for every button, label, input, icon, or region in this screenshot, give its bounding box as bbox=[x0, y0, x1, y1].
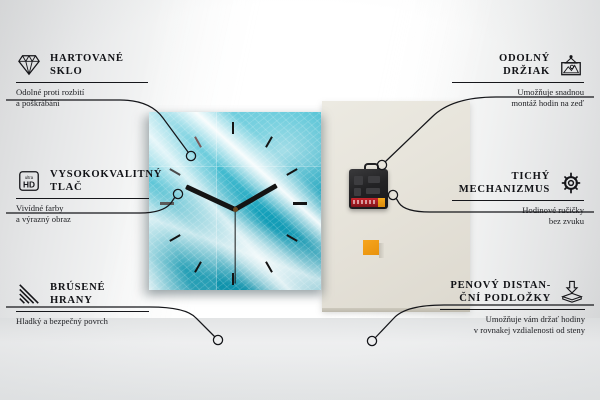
feature-head: PENOVÝ DISTAN- ČNÍ PODLOŽKY bbox=[440, 279, 585, 305]
picture-hanger-icon bbox=[558, 53, 584, 77]
feature-head: TICHÝ MECHANIZMUS bbox=[452, 170, 584, 196]
divider bbox=[16, 198, 149, 199]
feature-description: Umožňuje snadnou montáž hodin na zeď bbox=[452, 87, 584, 109]
feature-high-quality-print: ultra HD VYSOKOKVALITNÝ TLAČ Vivídné far… bbox=[16, 168, 149, 225]
feature-title: HARTOVANÉ SKLO bbox=[50, 52, 124, 78]
feature-title: ODOLNÝ DRŽIAK bbox=[499, 52, 550, 78]
feature-polished-edges: BRÚSENÉ HRANY Hladký a bezpečný povrch bbox=[16, 281, 149, 327]
feature-description: Odolné proti rozbití a poškrábání bbox=[16, 87, 148, 109]
foam-pad-arrow-icon bbox=[559, 280, 585, 304]
product-infographic: HARTOVANÉ SKLO Odolné proti rozbití a po… bbox=[0, 0, 600, 400]
feature-head: BRÚSENÉ HRANY bbox=[16, 281, 149, 307]
feature-foam-spacers: PENOVÝ DISTAN- ČNÍ PODLOŽKY Umožňuje vám… bbox=[440, 279, 585, 336]
divider bbox=[452, 82, 584, 83]
feature-head: HARTOVANÉ SKLO bbox=[16, 52, 148, 78]
clock-centre-cap bbox=[233, 207, 238, 212]
feature-head: ODOLNÝ DRŽIAK bbox=[452, 52, 584, 78]
svg-text:HD: HD bbox=[23, 179, 35, 189]
feature-description: Vivídné farby a výrazný obraz bbox=[16, 203, 149, 225]
feature-description: Hladký a bezpečný povrch bbox=[16, 316, 149, 327]
feature-title: VYSOKOKVALITNÝ TLAČ bbox=[50, 168, 162, 194]
feature-head: ultra HD VYSOKOKVALITNÝ TLAČ bbox=[16, 168, 149, 194]
feature-durable-holder: ODOLNÝ DRŽIAK Umožňuje snadnou montáž ho… bbox=[452, 52, 584, 109]
brushed-edges-icon bbox=[16, 282, 42, 306]
feature-description: Umožňuje vám držať hodiny v rovnakej vzd… bbox=[440, 314, 585, 336]
feature-tempered-glass: HARTOVANÉ SKLO Odolné proti rozbití a po… bbox=[16, 52, 148, 109]
divider bbox=[440, 309, 585, 310]
gear-icon bbox=[558, 171, 584, 195]
ultra-hd-icon: ultra HD bbox=[16, 169, 42, 193]
feature-title: TICHÝ MECHANIZMUS bbox=[459, 170, 550, 196]
feature-description: Hodinové ručičky bez zvuku bbox=[452, 205, 584, 227]
feature-title: BRÚSENÉ HRANY bbox=[50, 281, 105, 307]
divider bbox=[16, 82, 148, 83]
feature-title: PENOVÝ DISTAN- ČNÍ PODLOŽKY bbox=[450, 279, 551, 305]
feature-silent-mechanism: TICHÝ MECHANIZMUS Hodinové ručičky bez z… bbox=[452, 170, 584, 227]
divider bbox=[452, 200, 584, 201]
diamond-icon bbox=[16, 53, 42, 77]
divider bbox=[16, 311, 149, 312]
